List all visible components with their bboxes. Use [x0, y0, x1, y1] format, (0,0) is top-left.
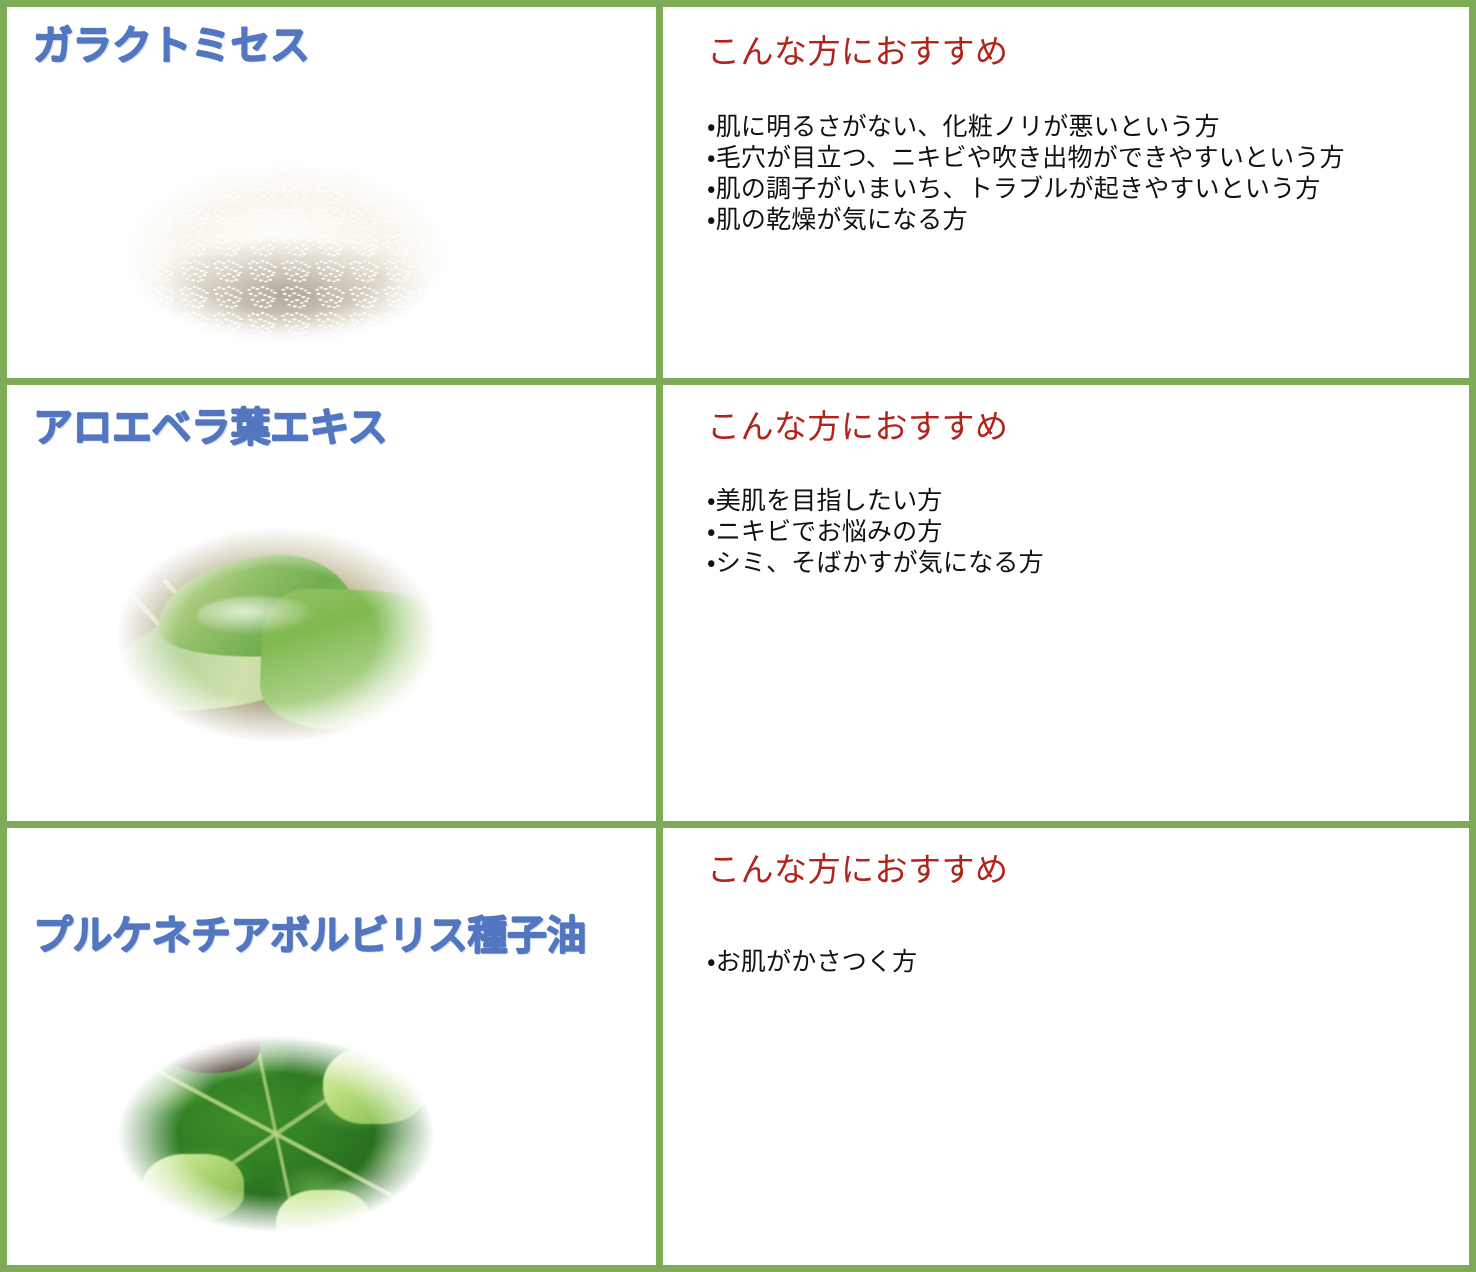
recommendation-list: ・肌に明るさがない、化粧ノリが悪いという方 ・毛穴が目立つ、ニキビや吹き出物がで… — [707, 111, 1345, 235]
rice-koji-photo — [85, 135, 489, 375]
recommendation-cell: こんな方におすすめ ・美肌を目指したい方 ・ニキビでお悩みの方 ・シミ、そばかす… — [663, 385, 1469, 821]
recommendation-heading: こんな方におすすめ — [707, 850, 1009, 890]
list-item: ・肌の調子がいまいち、トラブルが起きやすいという方 — [707, 173, 1345, 204]
recommendation-cell: こんな方におすすめ ・お肌がかさつく方 — [663, 828, 1469, 1265]
list-item: ・シミ、そばかすが気になる方 — [707, 547, 1044, 578]
recommendation-heading: こんな方におすすめ — [707, 32, 1009, 72]
ingredient-title: プルケネチアボルビリス種子油 — [33, 915, 586, 957]
table-row: ガラクトミセス こんな方におすすめ ・肌に明るさがない、化粧ノリが悪いという方 … — [7, 7, 1469, 385]
ingredient-table: ガラクトミセス こんな方におすすめ ・肌に明るさがない、化粧ノリが悪いという方 … — [0, 0, 1476, 1272]
table-row: アロエベラ葉エキス こんな方におすすめ ・美肌を目指 — [7, 385, 1469, 828]
ingredient-cell: アロエベラ葉エキス — [7, 385, 663, 821]
page-root: ガラクトミセス こんな方におすすめ ・肌に明るさがない、化粧ノリが悪いという方 … — [0, 0, 1476, 1272]
list-item: ・美肌を目指したい方 — [707, 485, 1044, 516]
ingredient-cell: プルケネチアボルビリス種子油 — [7, 828, 663, 1265]
ingredient-cell: ガラクトミセス — [7, 7, 663, 378]
aloe-vera-photo — [77, 495, 477, 775]
ingredient-title: アロエベラ葉エキス — [33, 407, 387, 449]
list-item: ・肌に明るさがない、化粧ノリが悪いという方 — [707, 111, 1345, 142]
ingredient-title: ガラクトミセス — [33, 25, 310, 67]
recommendation-heading: こんな方におすすめ — [707, 407, 1009, 447]
list-item: ・ニキビでお悩みの方 — [707, 516, 1044, 547]
recommendation-list: ・美肌を目指したい方 ・ニキビでお悩みの方 ・シミ、そばかすが気になる方 — [707, 485, 1044, 578]
list-item: ・お肌がかさつく方 — [707, 946, 917, 977]
list-item: ・肌の乾燥が気になる方 — [707, 204, 1345, 235]
recommendation-cell: こんな方におすすめ ・肌に明るさがない、化粧ノリが悪いという方 ・毛穴が目立つ、… — [663, 7, 1469, 378]
list-item: ・毛穴が目立つ、ニキビや吹き出物ができやすいという方 — [707, 142, 1345, 173]
table-row: プルケネチアボルビリス種子油 こんな方におすすめ — [7, 828, 1469, 1265]
recommendation-list: ・お肌がかさつく方 — [707, 946, 917, 977]
sacha-inchi-photo — [79, 1006, 473, 1262]
